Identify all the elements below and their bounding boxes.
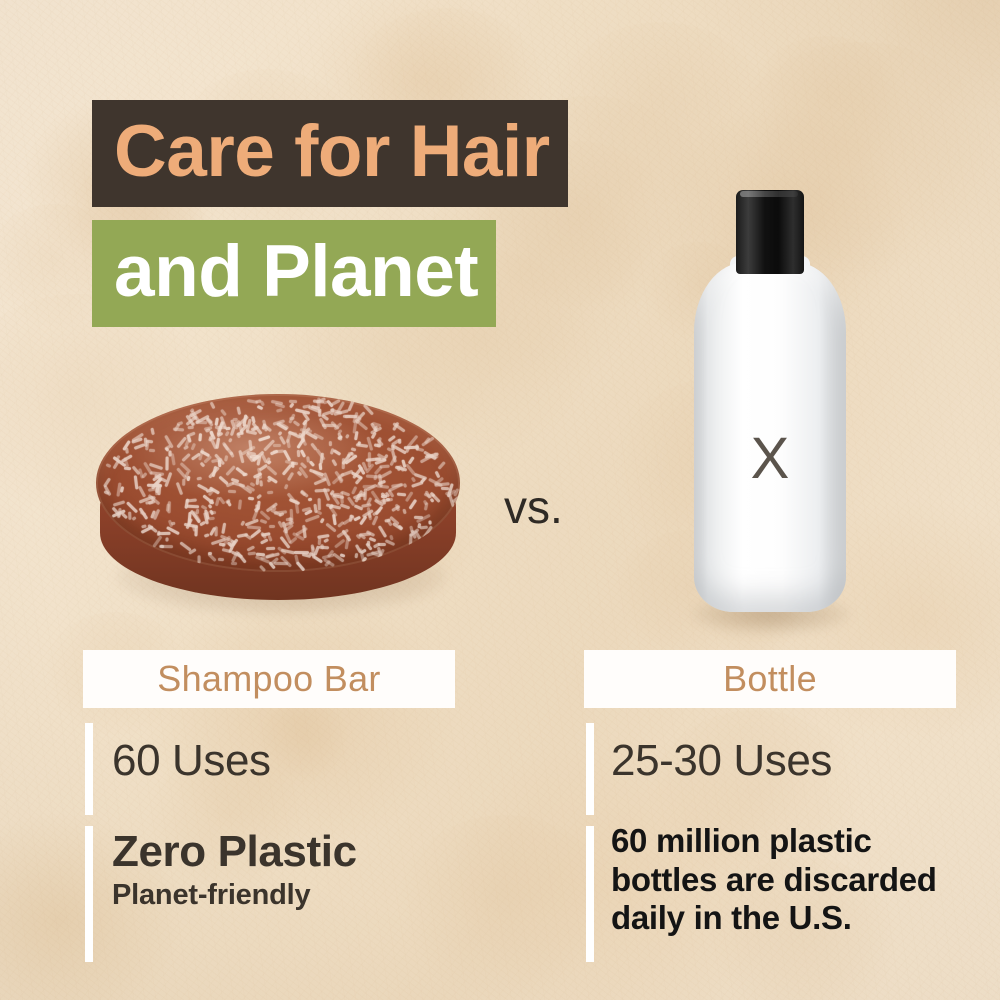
divider-right-lower bbox=[586, 826, 594, 962]
bottle-x-mark: X bbox=[690, 430, 850, 488]
headline-line-2: and Planet bbox=[92, 220, 496, 327]
shampoo-bar-stat: Zero Plastic bbox=[112, 827, 357, 877]
shampoo-bar-rim bbox=[96, 394, 460, 572]
label-bottle-text: Bottle bbox=[723, 658, 817, 700]
headline-block: Care for Hair and Planet bbox=[92, 100, 568, 327]
divider-right-upper bbox=[586, 723, 594, 815]
divider-left-upper bbox=[85, 723, 93, 815]
shampoo-bar-substat: Planet-friendly bbox=[112, 879, 310, 912]
plastic-bottle-image: X bbox=[690, 190, 850, 640]
headline-line-1: Care for Hair bbox=[92, 100, 568, 207]
bottle-paragraph: 60 million plastic bottles are discarded… bbox=[611, 822, 959, 938]
divider-left-lower bbox=[85, 826, 93, 962]
label-shampoo-bar-text: Shampoo Bar bbox=[157, 658, 380, 700]
versus-label: vs. bbox=[504, 480, 563, 534]
bottle-cap bbox=[736, 190, 804, 274]
bottle-uses: 25-30 Uses bbox=[611, 736, 832, 786]
infographic-canvas: Care for Hair and Planet X vs. Shampoo B… bbox=[0, 0, 1000, 1000]
label-shampoo-bar: Shampoo Bar bbox=[83, 650, 455, 708]
shampoo-bar-uses: 60 Uses bbox=[112, 736, 271, 786]
shampoo-bar-image bbox=[92, 388, 467, 626]
label-bottle: Bottle bbox=[584, 650, 956, 708]
